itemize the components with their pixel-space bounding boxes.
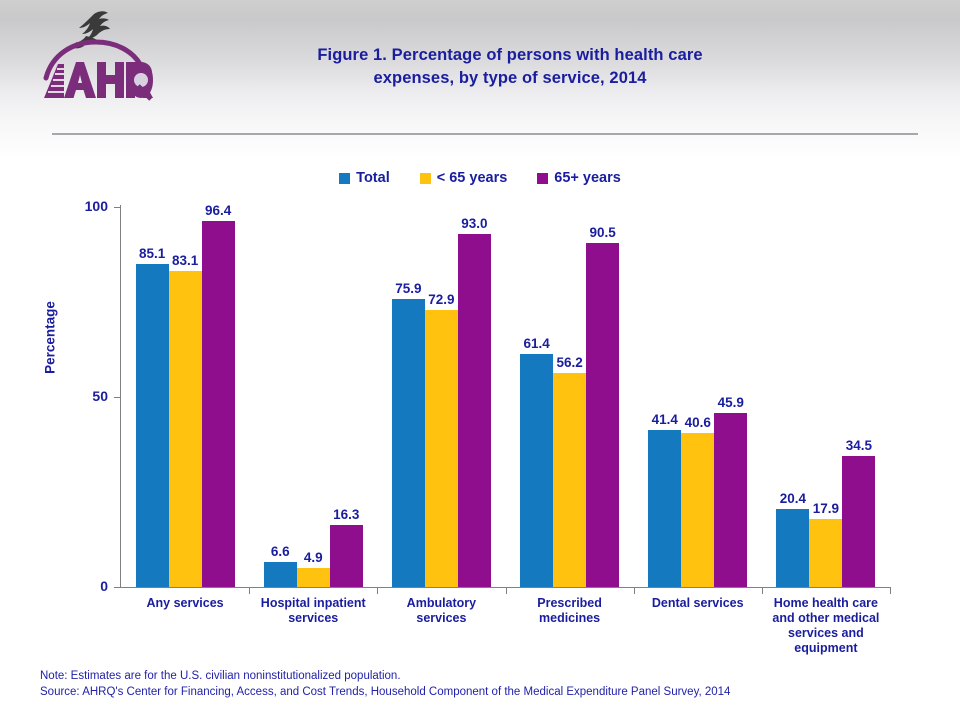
y-tick-label: 100: [48, 198, 108, 214]
x-axis-category-label: Any services: [121, 596, 249, 611]
bar-group-bars: 41.440.645.9: [634, 207, 762, 587]
category-label-line: equipment: [762, 641, 890, 656]
bar-value-label: 4.9: [304, 550, 323, 565]
category-label-line: and other medical: [762, 611, 890, 626]
bar-value-label: 16.3: [333, 507, 359, 522]
bar--65-years[interactable]: 83.1: [169, 207, 202, 587]
bar-65-years[interactable]: 96.4: [202, 207, 235, 587]
bar-chart: Percentage 050100 85.183.196.46.64.916.3…: [0, 0, 960, 720]
bar-value-label: 41.4: [652, 412, 678, 427]
category-label-line: medicines: [506, 611, 634, 626]
bar-rect[interactable]: [648, 430, 681, 587]
bar-group: 75.972.993.0: [377, 207, 505, 587]
y-tick-mark: [114, 397, 120, 398]
bar-value-label: 20.4: [780, 491, 806, 506]
bar-rect[interactable]: [553, 373, 586, 587]
bar-total[interactable]: 75.9: [392, 207, 425, 587]
y-tick-mark: [114, 207, 120, 208]
bar-total[interactable]: 85.1: [136, 207, 169, 587]
category-label-line: services: [377, 611, 505, 626]
bar-rect[interactable]: [264, 562, 297, 587]
y-tick-mark: [114, 587, 120, 588]
x-axis-group-separator: [762, 587, 763, 594]
bar-value-label: 45.9: [718, 395, 744, 410]
bar-65-years[interactable]: 16.3: [330, 207, 363, 587]
x-axis-category-label: Hospital inpatientservices: [249, 596, 377, 626]
bar--65-years[interactable]: 4.9: [297, 207, 330, 587]
bar-65-years[interactable]: 93.0: [458, 207, 491, 587]
bar-rect[interactable]: [202, 221, 235, 587]
bar-rect[interactable]: [681, 433, 714, 587]
bar-group: 20.417.934.5: [762, 207, 890, 587]
category-label-line: Prescribed: [506, 596, 634, 611]
x-axis-group-separator: [249, 587, 250, 594]
bar-65-years[interactable]: 45.9: [714, 207, 747, 587]
bar-value-label: 17.9: [813, 501, 839, 516]
bar--65-years[interactable]: 72.9: [425, 207, 458, 587]
bar-rect[interactable]: [425, 310, 458, 587]
bar-rect[interactable]: [458, 234, 491, 587]
y-tick-label: 50: [48, 388, 108, 404]
bar-group-bars: 85.183.196.4: [121, 207, 249, 587]
category-label-line: services and: [762, 626, 890, 641]
plot-area: 85.183.196.46.64.916.375.972.993.061.456…: [121, 207, 890, 587]
footnote-source: Source: AHRQ's Center for Financing, Acc…: [40, 684, 940, 700]
bar--65-years[interactable]: 17.9: [809, 207, 842, 587]
bar-value-label: 93.0: [461, 216, 487, 231]
bar-rect[interactable]: [842, 456, 875, 587]
bar-value-label: 72.9: [428, 292, 454, 307]
bar-group: 61.456.290.5: [506, 207, 634, 587]
y-tick-label: 0: [48, 578, 108, 594]
bar-group: 6.64.916.3: [249, 207, 377, 587]
bar-value-label: 85.1: [139, 246, 165, 261]
chart-footnote: Note: Estimates are for the U.S. civilia…: [40, 668, 940, 700]
bar-group-bars: 20.417.934.5: [762, 207, 890, 587]
x-axis-category-label: Prescribedmedicines: [506, 596, 634, 626]
bar-65-years[interactable]: 34.5: [842, 207, 875, 587]
x-axis-group-separator: [634, 587, 635, 594]
bar-group: 85.183.196.4: [121, 207, 249, 587]
bar-value-label: 34.5: [846, 438, 872, 453]
bar-group-bars: 75.972.993.0: [377, 207, 505, 587]
bar-value-label: 61.4: [523, 336, 549, 351]
bar-group: 41.440.645.9: [634, 207, 762, 587]
bar-group-bars: 6.64.916.3: [249, 207, 377, 587]
bar-total[interactable]: 6.6: [264, 207, 297, 587]
category-label-line: Home health care: [762, 596, 890, 611]
category-label-line: services: [249, 611, 377, 626]
x-axis-category-label: Home health careand other medicalservice…: [762, 596, 890, 656]
x-axis-group-separator: [377, 587, 378, 594]
bar-value-label: 40.6: [685, 415, 711, 430]
bar-total[interactable]: 61.4: [520, 207, 553, 587]
bar-group-bars: 61.456.290.5: [506, 207, 634, 587]
category-label-line: Dental services: [634, 596, 762, 611]
bar--65-years[interactable]: 40.6: [681, 207, 714, 587]
bar-value-label: 90.5: [589, 225, 615, 240]
bar-rect[interactable]: [297, 568, 330, 587]
bar-total[interactable]: 20.4: [776, 207, 809, 587]
bar-rect[interactable]: [520, 354, 553, 587]
bar-rect[interactable]: [586, 243, 619, 587]
y-axis-title: Percentage: [43, 278, 58, 398]
bar-rect[interactable]: [392, 299, 425, 587]
bar-total[interactable]: 41.4: [648, 207, 681, 587]
bar-65-years[interactable]: 90.5: [586, 207, 619, 587]
bar-rect[interactable]: [169, 271, 202, 587]
footnote-note: Note: Estimates are for the U.S. civilia…: [40, 668, 940, 684]
category-label-line: Ambulatory: [377, 596, 505, 611]
bar-value-label: 96.4: [205, 203, 231, 218]
bar-rect[interactable]: [714, 413, 747, 587]
bar--65-years[interactable]: 56.2: [553, 207, 586, 587]
x-axis-category-label: Ambulatoryservices: [377, 596, 505, 626]
bar-rect[interactable]: [330, 525, 363, 587]
x-axis-group-separator: [890, 587, 891, 594]
bar-value-label: 56.2: [556, 355, 582, 370]
bar-rect[interactable]: [809, 519, 842, 587]
bar-value-label: 75.9: [395, 281, 421, 296]
category-label-line: Hospital inpatient: [249, 596, 377, 611]
bar-value-label: 83.1: [172, 253, 198, 268]
x-axis-category-label: Dental services: [634, 596, 762, 611]
x-axis-group-separator: [506, 587, 507, 594]
bar-rect[interactable]: [776, 509, 809, 587]
bar-value-label: 6.6: [271, 544, 290, 559]
category-label-line: Any services: [121, 596, 249, 611]
bar-rect[interactable]: [136, 264, 169, 587]
